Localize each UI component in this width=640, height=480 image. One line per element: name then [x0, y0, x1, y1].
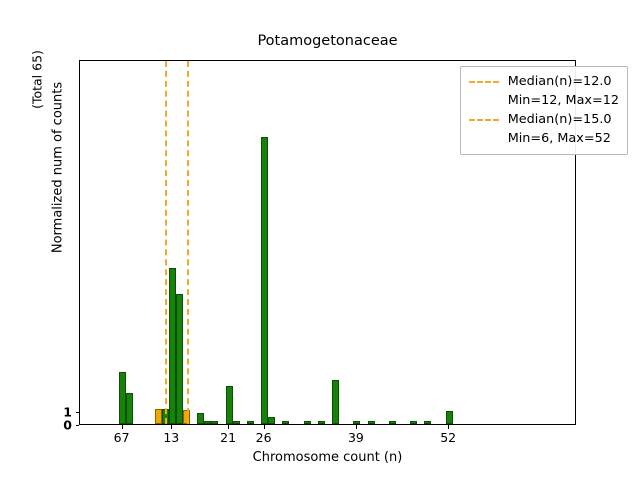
bar	[268, 417, 275, 424]
dashed-line-icon	[469, 119, 499, 121]
bar	[282, 421, 289, 424]
legend-label: Min=12, Max=12	[508, 93, 619, 108]
y-tick-label: 1	[63, 404, 72, 419]
y-axis-total-label: (Total 65)	[30, 10, 45, 150]
bar	[126, 393, 133, 424]
bar	[304, 421, 311, 424]
x-tick-mark	[171, 425, 172, 429]
y-tick-mark	[76, 425, 80, 426]
x-axis-label: Chromosome count (n)	[79, 450, 576, 465]
x-tick-mark	[228, 425, 229, 429]
median-vline	[165, 61, 167, 424]
bar	[446, 411, 453, 424]
x-tick-mark	[122, 425, 123, 429]
bar	[332, 380, 339, 424]
bar	[247, 421, 254, 424]
bar	[368, 421, 375, 424]
legend-row: Median(n)=15.0	[469, 110, 619, 129]
legend-label: Median(n)=12.0	[508, 74, 612, 89]
x-tick-mark	[448, 425, 449, 429]
median-vline	[187, 61, 189, 424]
bar	[389, 421, 396, 424]
legend-row: Min=12, Max=12	[469, 91, 619, 110]
x-tick-mark	[356, 425, 357, 429]
x-tick-label: 39	[348, 430, 364, 445]
y-tick-mark	[76, 412, 80, 413]
x-tick-label: 21	[220, 430, 236, 445]
bar	[261, 137, 268, 424]
bar	[424, 421, 431, 424]
bar	[176, 294, 183, 424]
y-axis-label: Normalized num of counts	[51, 38, 66, 298]
bar	[204, 421, 211, 424]
legend-row: Median(n)=12.0	[469, 72, 619, 91]
y-tick-label: 0	[63, 418, 72, 433]
figure-canvas: Potamogetonaceae 671321263952 01 Chromos…	[0, 0, 640, 480]
x-tick-mark	[264, 425, 265, 429]
bar	[169, 268, 176, 424]
x-tick-label: 52	[440, 430, 456, 445]
bar	[233, 421, 240, 424]
legend-label: Min=6, Max=52	[508, 131, 611, 146]
bar	[353, 421, 360, 424]
legend: Median(n)=12.0Min=12, Max=12Median(n)=15…	[460, 66, 628, 155]
legend-row: Min=6, Max=52	[469, 129, 619, 148]
x-tick-label: 67	[114, 430, 130, 445]
bar	[318, 421, 325, 424]
x-tick-label: 26	[256, 430, 272, 445]
bar	[410, 421, 417, 424]
bar	[226, 386, 233, 424]
bar	[211, 421, 218, 424]
chart-title: Potamogetonaceae	[79, 32, 576, 50]
dashed-line-icon	[469, 81, 499, 83]
bar	[155, 409, 162, 424]
x-tick-label: 13	[163, 430, 179, 445]
bar	[119, 372, 126, 424]
legend-label: Median(n)=15.0	[508, 112, 612, 127]
bar	[197, 413, 204, 424]
